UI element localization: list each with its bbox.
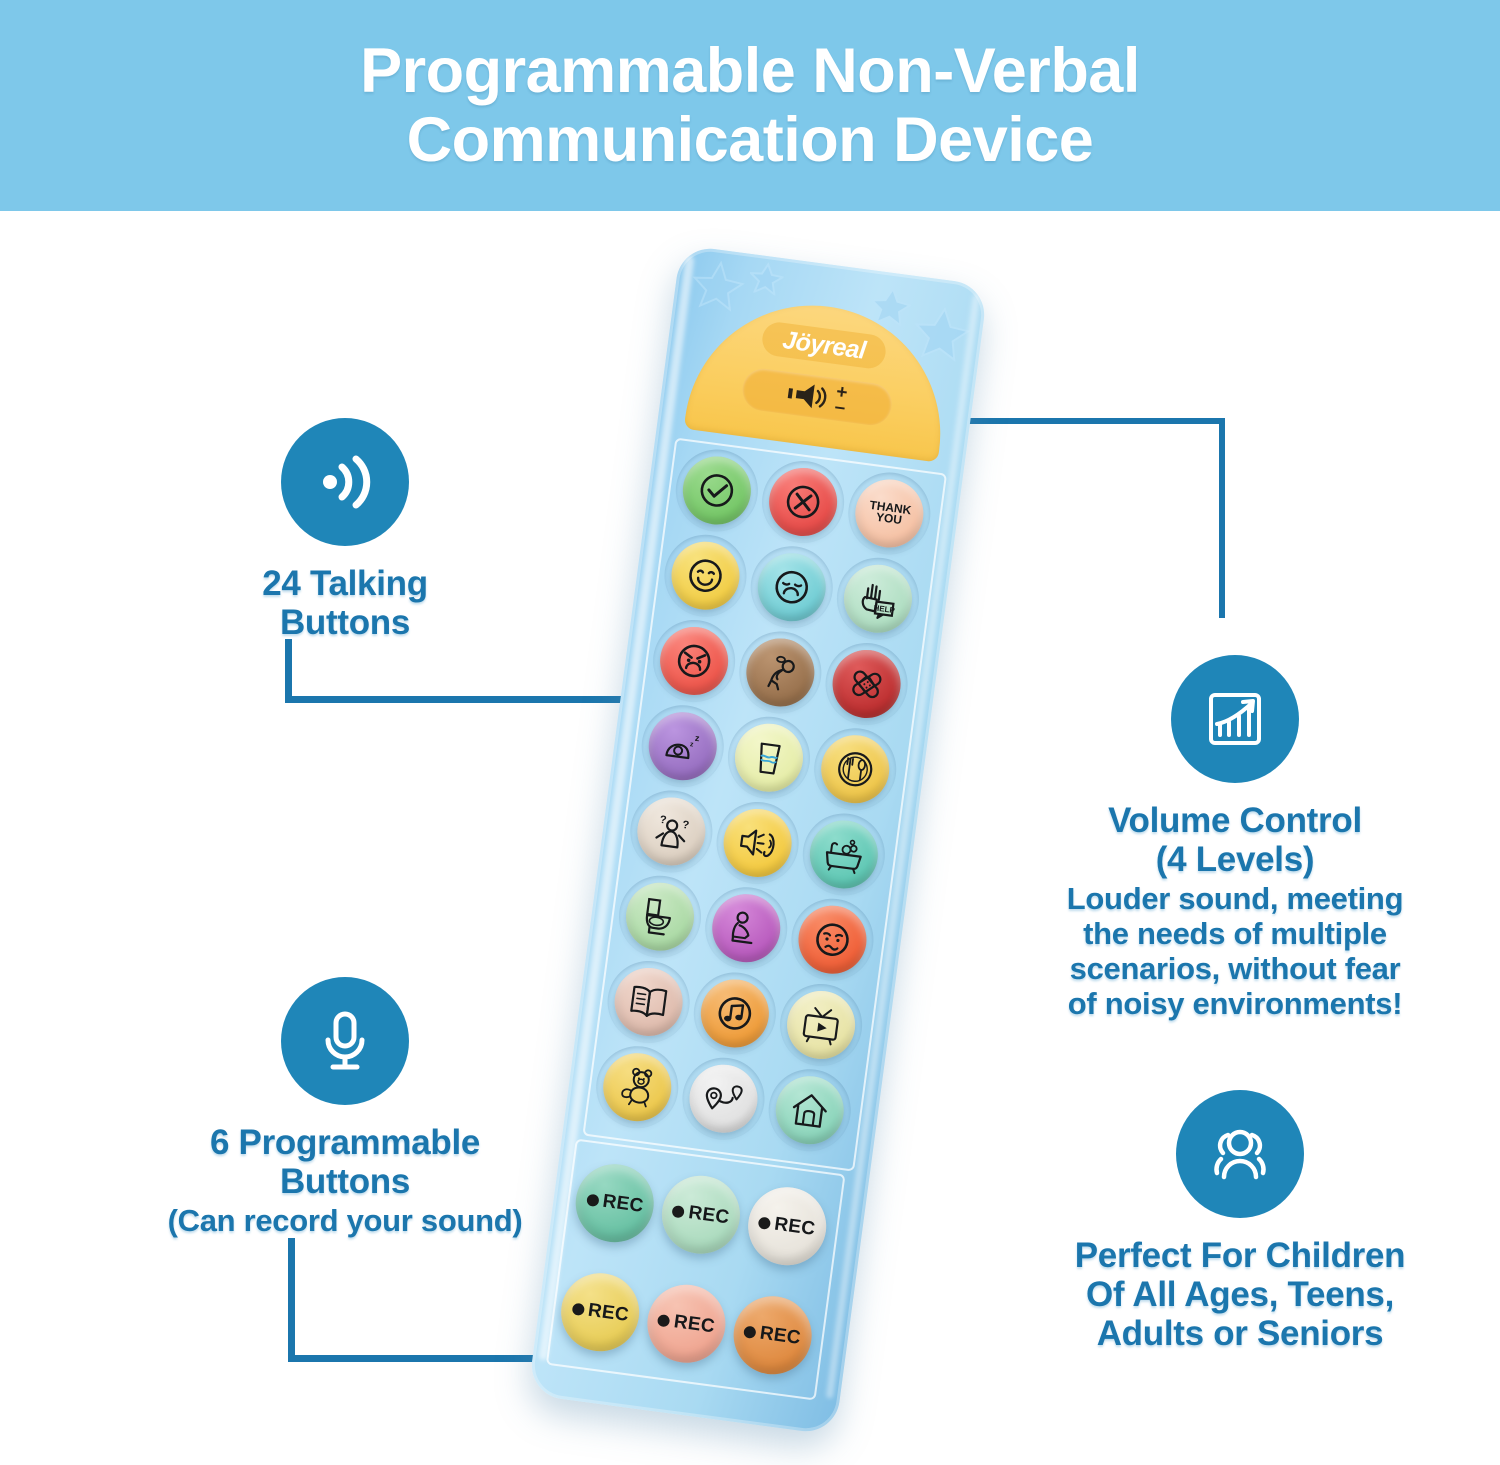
talking-button-yes[interactable] — [678, 452, 754, 528]
talking-button-play[interactable] — [599, 1049, 675, 1125]
record-label: REC — [773, 1214, 817, 1241]
talking-button-hurt[interactable] — [829, 646, 905, 722]
talking-buttons-grid: THANK YOU HELP — [588, 442, 939, 1159]
microphone-icon — [281, 977, 409, 1105]
record-dot-icon — [743, 1326, 756, 1339]
open-book-icon — [625, 980, 672, 1023]
record-button[interactable]: REC — [728, 1291, 816, 1379]
record-button[interactable]: REC — [657, 1171, 745, 1259]
record-button[interactable]: REC — [557, 1269, 645, 1357]
record-label: REC — [758, 1323, 802, 1350]
rising-bar-chart-icon — [1171, 655, 1299, 783]
toilet-icon — [637, 893, 682, 940]
plate-utensils-icon — [832, 746, 879, 793]
person-sitting-icon — [723, 905, 770, 952]
thank-you-bubble-icon: THANK YOU — [854, 498, 924, 530]
talking-button-confused[interactable]: ? ? — [633, 793, 709, 869]
worried-face-icon — [810, 917, 855, 962]
talking-button-read[interactable] — [610, 964, 686, 1040]
connector-talking-vertical — [285, 639, 292, 703]
record-label: REC — [687, 1202, 731, 1229]
talking-button-sleepy[interactable]: z z — [644, 708, 720, 784]
device-body: Jöyreal + – — [528, 245, 989, 1436]
sleepy-person-icon: z z — [659, 723, 706, 770]
record-label: REC — [673, 1311, 717, 1338]
record-label: REC — [587, 1300, 631, 1327]
star-emboss-icon — [747, 260, 785, 296]
record-button[interactable]: REC — [571, 1159, 659, 1247]
talking-button-help[interactable]: HELP — [840, 561, 916, 637]
speaker-icon — [786, 378, 836, 414]
talking-button-sad[interactable] — [754, 549, 830, 625]
record-dot-icon — [657, 1314, 670, 1327]
sound-waves-icon — [281, 418, 409, 546]
talking-button-tv[interactable] — [783, 987, 859, 1063]
happy-face-icon — [683, 553, 728, 598]
connector-volume-vertical — [1219, 418, 1225, 618]
talking-button-eat[interactable] — [817, 731, 893, 807]
svg-text:?: ? — [681, 819, 690, 832]
talking-button-music[interactable] — [697, 975, 773, 1051]
talking-button-go-out[interactable] — [685, 1061, 761, 1137]
star-emboss-icon — [910, 302, 973, 363]
talking-button-drink[interactable] — [731, 720, 807, 796]
header-banner: Programmable Non-Verbal Communication De… — [0, 0, 1500, 211]
stomach-ache-person-icon — [757, 649, 804, 696]
record-label: REC — [601, 1191, 645, 1218]
feature-volume-control: Volume Control (4 Levels) Louder sound, … — [1000, 655, 1470, 1021]
volume-minus-label[interactable]: – — [834, 399, 846, 415]
page-title: Programmable Non-Verbal Communication De… — [360, 37, 1140, 173]
people-group-icon — [1176, 1090, 1304, 1218]
product-image: Jöyreal + – — [478, 252, 1038, 1452]
brand-logo: Jöyreal — [760, 320, 887, 370]
record-dot-icon — [571, 1303, 584, 1316]
angry-face-icon — [671, 638, 716, 683]
svg-text:z: z — [689, 741, 694, 748]
feature-title: Volume Control (4 Levels) — [1000, 801, 1470, 879]
record-button[interactable]: REC — [643, 1280, 731, 1368]
star-emboss-icon — [868, 284, 913, 327]
talking-button-thank-you[interactable]: THANK YOU — [851, 475, 927, 551]
volume-control-button[interactable]: + – — [740, 366, 894, 427]
help-hand-icon: HELP — [855, 575, 902, 622]
teddy-bear-icon — [613, 1065, 660, 1110]
sad-face-icon — [769, 565, 814, 610]
talking-button-home[interactable] — [772, 1072, 848, 1148]
communication-device: Jöyreal + – — [528, 245, 989, 1436]
svg-text:z: z — [694, 733, 700, 744]
check-circle-icon — [694, 468, 739, 513]
talking-button-bath[interactable] — [806, 816, 882, 892]
talking-button-alone[interactable] — [708, 890, 784, 966]
brand-name: Jöyreal — [781, 327, 867, 363]
feature-audience: Perfect For Children Of All Ages, Teens,… — [1005, 1090, 1475, 1354]
water-glass-icon — [746, 734, 791, 781]
talking-button-happy[interactable] — [667, 537, 743, 613]
house-icon — [787, 1088, 834, 1133]
bathtub-icon — [821, 832, 868, 877]
tv-play-icon — [798, 1002, 845, 1047]
feature-subtitle: Louder sound, meeting the needs of multi… — [1000, 881, 1470, 1021]
talking-button-angry[interactable] — [656, 623, 732, 699]
loud-speaker-ear-icon — [734, 820, 781, 865]
feature-title: Perfect For Children Of All Ages, Teens,… — [1005, 1236, 1475, 1354]
bandages-icon — [843, 660, 890, 707]
talking-button-worried[interactable] — [795, 902, 871, 978]
star-emboss-icon — [689, 257, 747, 313]
confused-person-icon: ? ? — [647, 808, 694, 855]
talking-button-no[interactable] — [765, 464, 841, 540]
talking-button-tummy-hurts[interactable] — [742, 634, 818, 710]
record-dot-icon — [672, 1205, 685, 1218]
talking-button-toilet[interactable] — [621, 878, 697, 954]
x-circle-icon — [781, 480, 826, 525]
map-route-icon — [700, 1077, 747, 1120]
record-button[interactable]: REC — [743, 1182, 831, 1270]
record-buttons-grid: REC REC REC REC REC — [550, 1143, 837, 1395]
record-dot-icon — [758, 1216, 771, 1229]
music-note-icon — [711, 990, 758, 1037]
connector-programmable-vertical — [288, 1238, 295, 1362]
record-dot-icon — [586, 1194, 599, 1207]
talking-button-listen[interactable] — [719, 805, 795, 881]
